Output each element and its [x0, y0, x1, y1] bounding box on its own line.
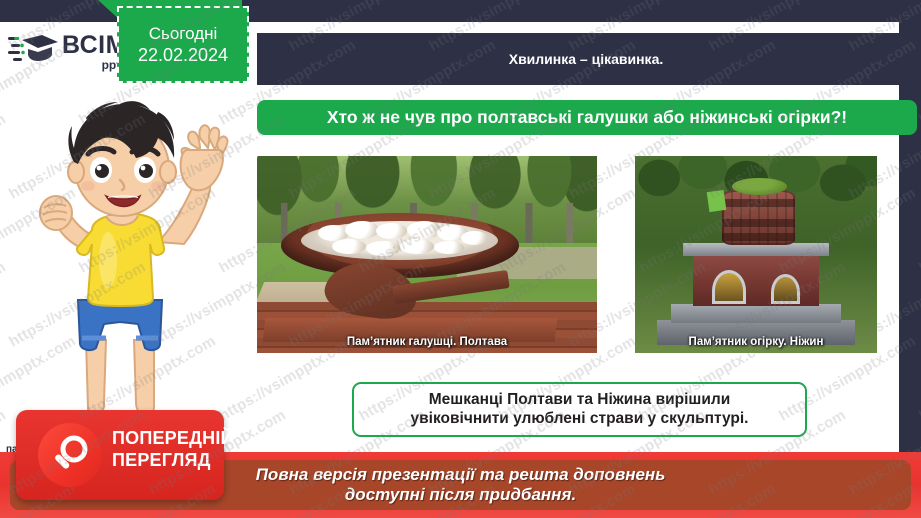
galushka-scene [257, 156, 597, 353]
question-banner: Хто ж не чув про полтавські галушки або … [257, 100, 917, 135]
boy-illustration [8, 92, 240, 440]
page-title: Хвилинка – цікавинка. [509, 51, 664, 67]
ogirok-scene [635, 156, 877, 353]
brand-logo: ВСІМ pptx [8, 28, 126, 76]
statement-line-1: Мешканці Полтави та Ніжина вирішили [429, 391, 730, 410]
watermark-text: https://vsimpptx.com [916, 332, 921, 424]
magnifier-icon [38, 423, 102, 487]
preview-badge-text: ПОПЕРЕДНІЙ ПЕРЕГЛЯД [112, 428, 218, 472]
date-badge: Сьогодні 22.02.2024 [117, 6, 249, 83]
promo-line-2: доступні після придбання. [345, 485, 576, 505]
photo-ogirok: Пам’ятник огірку. Ніжин [635, 156, 877, 353]
promo-line-1: Повна версія презентації та решта доповн… [256, 465, 666, 485]
statement-box: Мешканці Полтави та Ніжина вирішили увік… [352, 382, 807, 437]
statement-line-2: увіковічнити улюблені страви у скульптур… [411, 410, 749, 429]
date-badge-value: 22.02.2024 [138, 44, 228, 67]
photo-caption: Пам’ятник галушці. Полтава [257, 336, 597, 348]
date-badge-label: Сьогодні [149, 23, 218, 44]
question-banner-text: Хто ж не чув про полтавські галушки або … [327, 107, 847, 128]
slide-header-band: Хвилинка – цікавинка. [257, 33, 915, 85]
photo-galushka: Пам’ятник галушці. Полтава [257, 156, 597, 353]
presentation-slide: ВСІМ pptx Сьогодні 22.02.2024 Хвилинка –… [0, 0, 921, 518]
photo-caption: Пам’ятник огірку. Ніжин [635, 336, 877, 348]
preview-badge-line-1: ПОПЕРЕДНІЙ [112, 428, 218, 450]
preview-badge[interactable]: ПОПЕРЕДНІЙ ПЕРЕГЛЯД [16, 410, 224, 500]
graduation-cap-icon [8, 33, 60, 71]
preview-badge-line-2: ПЕРЕГЛЯД [112, 450, 218, 472]
watermark-text: https://vsimpptx.com [916, 184, 921, 276]
